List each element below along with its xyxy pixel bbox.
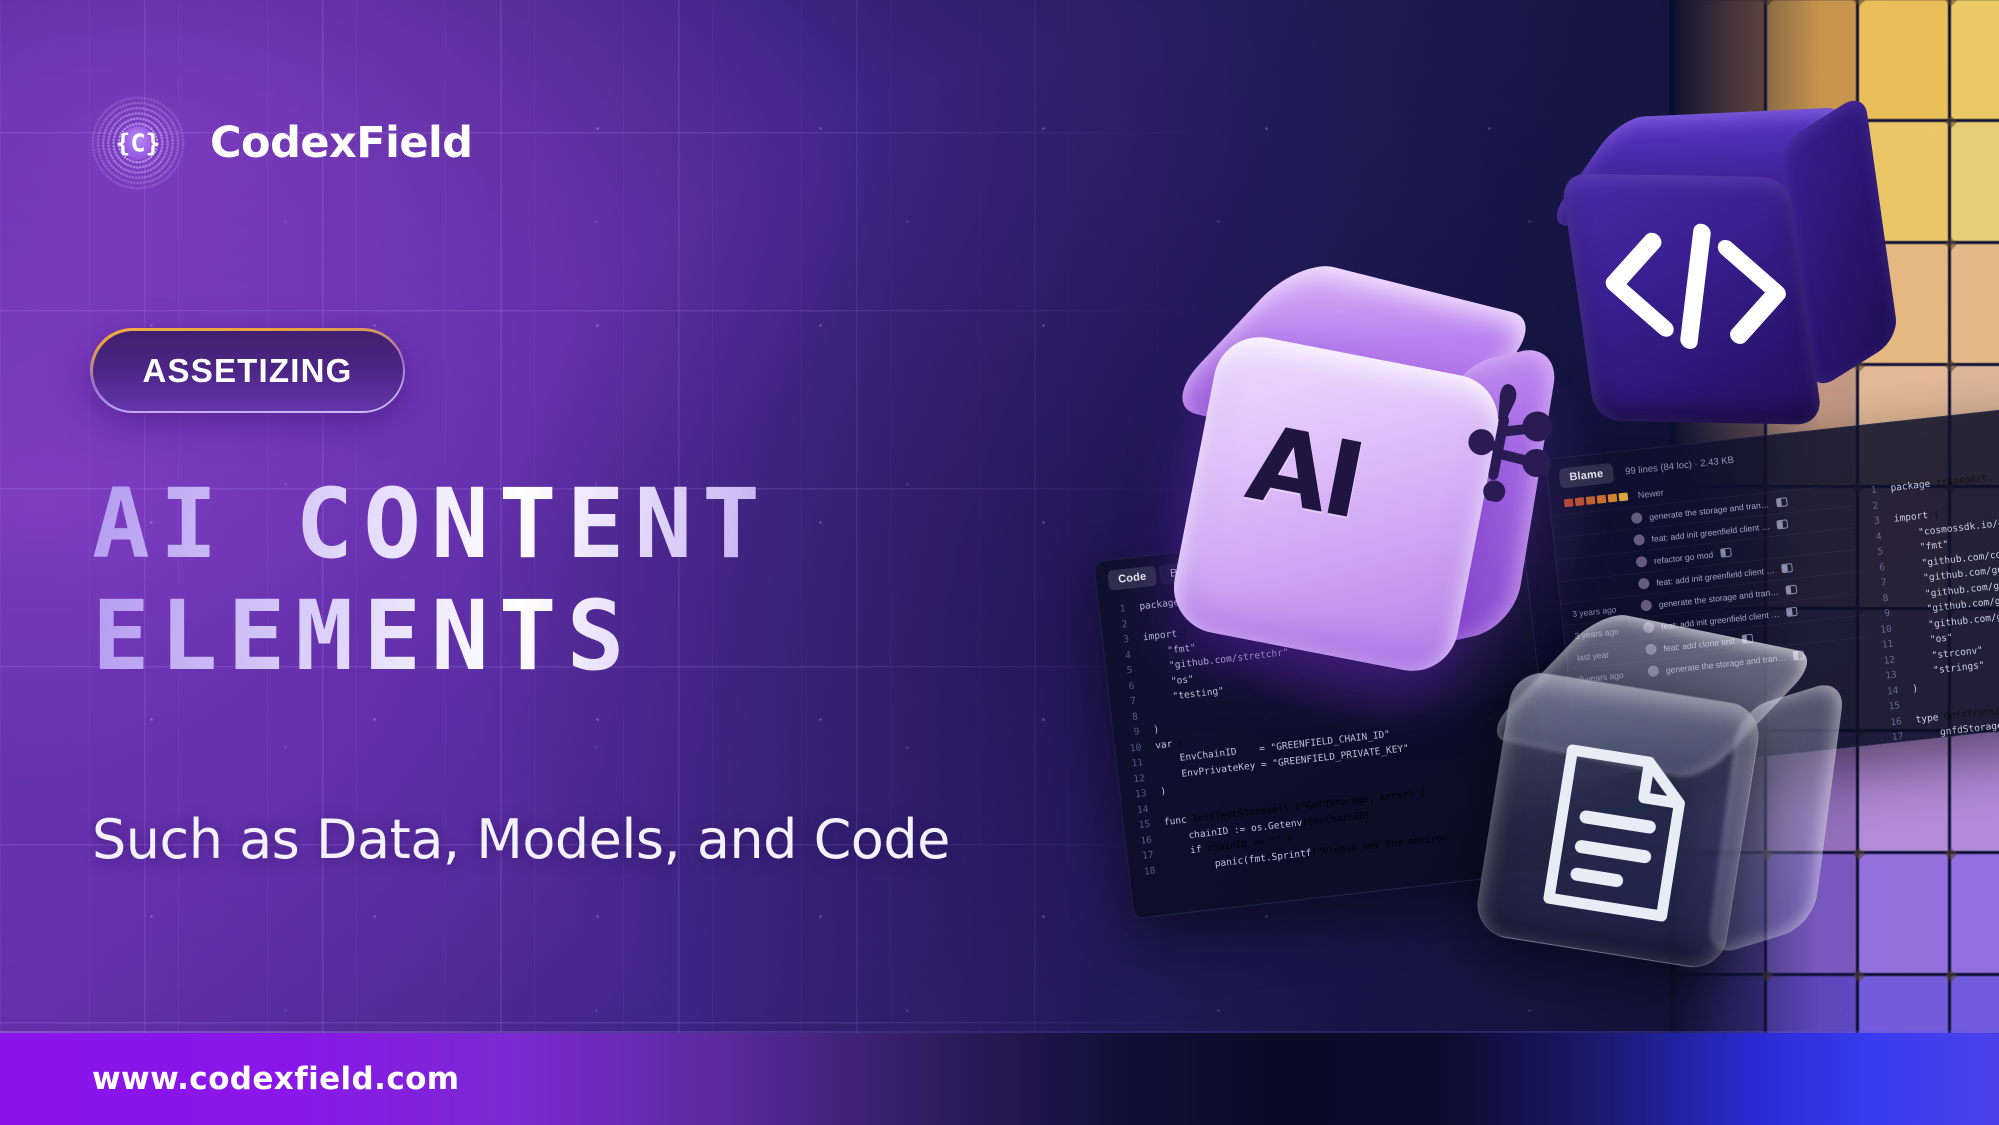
promo-banner: Code Blame 1package storage23import (4 "…	[0, 0, 1999, 1125]
page-subtitle: Such as Data, Models, and Code	[92, 808, 950, 871]
document-cube	[1480, 628, 1880, 1008]
commit-icon	[1775, 497, 1787, 507]
footer-url[interactable]: www.codexfield.com	[92, 1061, 460, 1097]
commit-icon	[1785, 585, 1797, 595]
ai-node-icon	[1437, 371, 1566, 511]
assetizing-badge-label: ASSETIZING	[143, 352, 353, 390]
document-icon	[1530, 737, 1705, 928]
logo-glyph: {C}	[115, 129, 160, 158]
file-meta: 99 lines (84 loc) · 2.43 KB	[1625, 454, 1735, 477]
tab-code[interactable]: Code	[1107, 565, 1157, 590]
heat-label: Newer	[1637, 488, 1664, 501]
commit-icon	[1776, 519, 1788, 529]
headline-line-1: AI CONTENT	[92, 478, 770, 570]
blame-message: refactor go mod	[1653, 549, 1713, 565]
avatar	[1638, 578, 1650, 590]
avatar	[1635, 556, 1647, 568]
commit-icon	[1720, 548, 1732, 558]
avatar	[1631, 512, 1643, 524]
avatar	[1640, 599, 1652, 611]
commit-icon	[1786, 607, 1798, 617]
footer-bar: www.codexfield.com	[0, 1033, 1999, 1125]
assetizing-badge[interactable]: ASSETIZING	[90, 328, 405, 413]
brand-name: CodexField	[210, 118, 473, 168]
code-brackets-icon	[1584, 208, 1807, 360]
brand-logo-row: {C} CodexField	[90, 95, 473, 191]
assetizing-badge-inner: ASSETIZING	[93, 331, 403, 411]
commit-icon	[1781, 563, 1793, 573]
headline-line-2: ELEMENTS	[92, 590, 770, 682]
page-title: AI CONTENT ELEMENTS	[92, 478, 770, 682]
avatar	[1633, 534, 1645, 546]
heat-swatch	[1618, 492, 1628, 501]
codexfield-dotted-circle-logo: {C}	[90, 95, 186, 191]
